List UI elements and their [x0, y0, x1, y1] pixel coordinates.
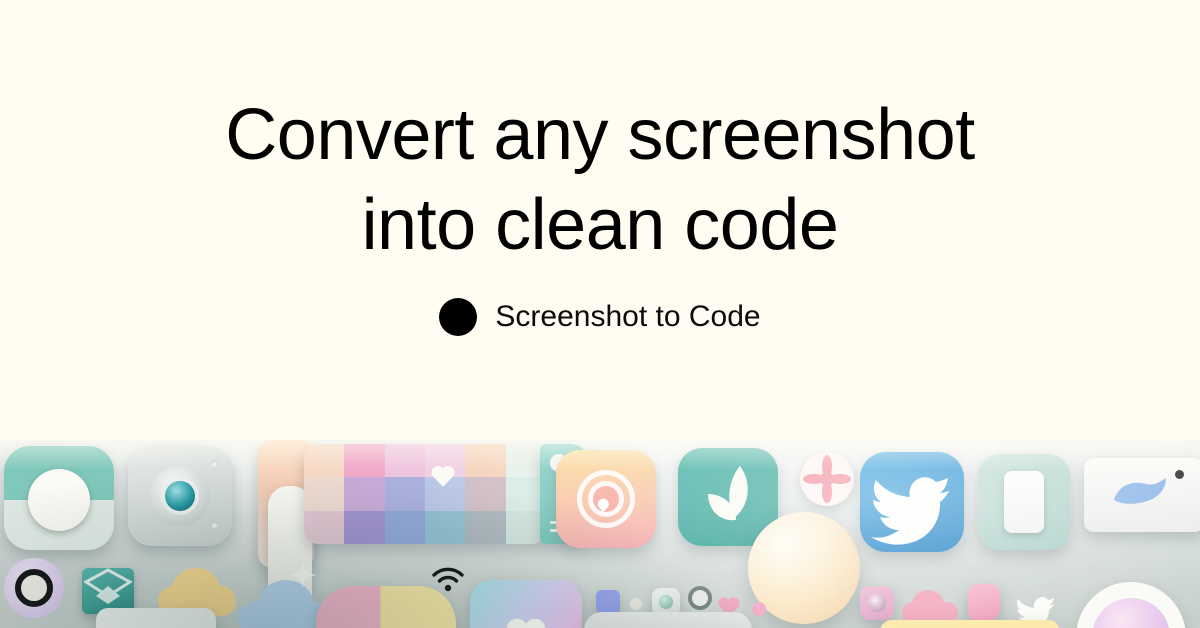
hero-content: Convert any screenshot into clean code S…	[0, 0, 1200, 440]
camera-dot-icon	[211, 460, 218, 467]
app-icon-collage-strip	[0, 440, 1200, 628]
swatch-cell	[385, 444, 425, 477]
dot-shape	[630, 598, 642, 610]
lavender-ring-icon	[4, 558, 64, 618]
color-swatch-grid	[304, 444, 546, 544]
twitter-bird-icon	[860, 452, 964, 552]
swatch-cell	[344, 477, 384, 510]
og-card: Convert any screenshot into clean code S…	[0, 0, 1200, 628]
circle-shape	[28, 469, 90, 531]
phone-screen-shape	[1004, 471, 1044, 533]
heart-icon	[430, 464, 456, 488]
yellow-panel	[880, 620, 1060, 628]
plate-circle	[1076, 582, 1186, 628]
capsule-shape	[316, 586, 456, 628]
camera-dot-icon	[211, 521, 218, 528]
circle-shape	[659, 595, 673, 609]
location-pin-icon	[556, 450, 656, 548]
bead-shape	[752, 602, 766, 616]
wifi-icon	[430, 566, 466, 592]
swatch-cell	[304, 511, 344, 544]
dot-shape	[1175, 470, 1184, 479]
cloud-pink-icon	[902, 590, 958, 624]
heart-gradient-tile	[470, 580, 582, 628]
swatch-cell	[304, 444, 344, 477]
brand: Screenshot to Code	[439, 298, 760, 336]
white-panel	[96, 608, 216, 628]
gray-panel	[584, 612, 752, 628]
ring-shape	[15, 569, 53, 607]
mini-app-blue-icon	[596, 590, 620, 614]
camera-teal-icon	[4, 446, 114, 550]
black-circle-icon	[439, 298, 477, 336]
circle-shape	[868, 594, 886, 612]
swatch-cell	[385, 477, 425, 510]
swatch-cell	[465, 511, 505, 544]
brand-name: Screenshot to Code	[495, 300, 760, 334]
page-title: Convert any screenshot into clean code	[225, 90, 974, 270]
phone-mint-icon	[978, 454, 1070, 550]
swatch-cell	[465, 444, 505, 477]
mini-app-b-icon	[968, 584, 1000, 622]
ring-shape	[688, 586, 712, 610]
flower-icon	[800, 452, 854, 506]
swatch-cell	[344, 444, 384, 477]
mini-app-pink-icon	[860, 586, 894, 620]
swatch-cell	[465, 477, 505, 510]
swatch-cell	[425, 511, 465, 544]
lens-glass-shape	[165, 481, 195, 511]
bird-card-icon	[1084, 458, 1200, 532]
swatch-cell	[385, 511, 425, 544]
plate-inner-shape	[1092, 598, 1170, 628]
camera-gray-icon	[128, 446, 232, 546]
swatch-cell	[304, 477, 344, 510]
swatch-cell	[344, 511, 384, 544]
sparkle-icon	[290, 562, 316, 588]
